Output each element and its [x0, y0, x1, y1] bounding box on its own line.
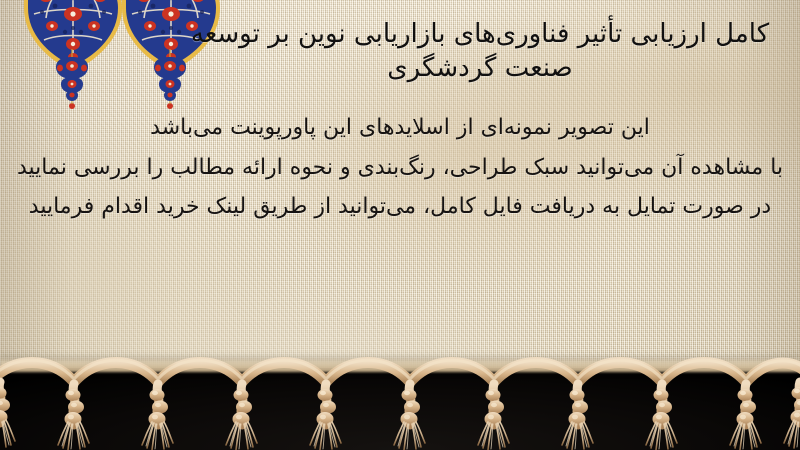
cloth-hem-edge — [0, 356, 800, 372]
slide-title-line-2: صنعت گردشگری — [174, 52, 786, 86]
body-text-line-1: این تصویر نمونه‌ای از اسلایدهای این پاور… — [10, 108, 790, 148]
slide-title: کامل ارزیابی تأثیر فناوری‌های بازاریابی … — [174, 18, 786, 86]
body-text-line-3: در صورت تمایل به دریافت فایل کامل، می‌تو… — [10, 187, 790, 227]
slide-title-line-1: کامل ارزیابی تأثیر فناوری‌های بازاریابی … — [174, 18, 786, 52]
body-text-line-2: با مشاهده آن می‌توانید سبک طراحی، رنگ‌بن… — [10, 148, 790, 188]
presentation-slide: کامل ارزیابی تأثیر فناوری‌های بازاریابی … — [0, 0, 800, 450]
bottom-black-band — [0, 368, 800, 450]
slide-body-text: این تصویر نمونه‌ای از اسلایدهای این پاور… — [10, 108, 790, 227]
